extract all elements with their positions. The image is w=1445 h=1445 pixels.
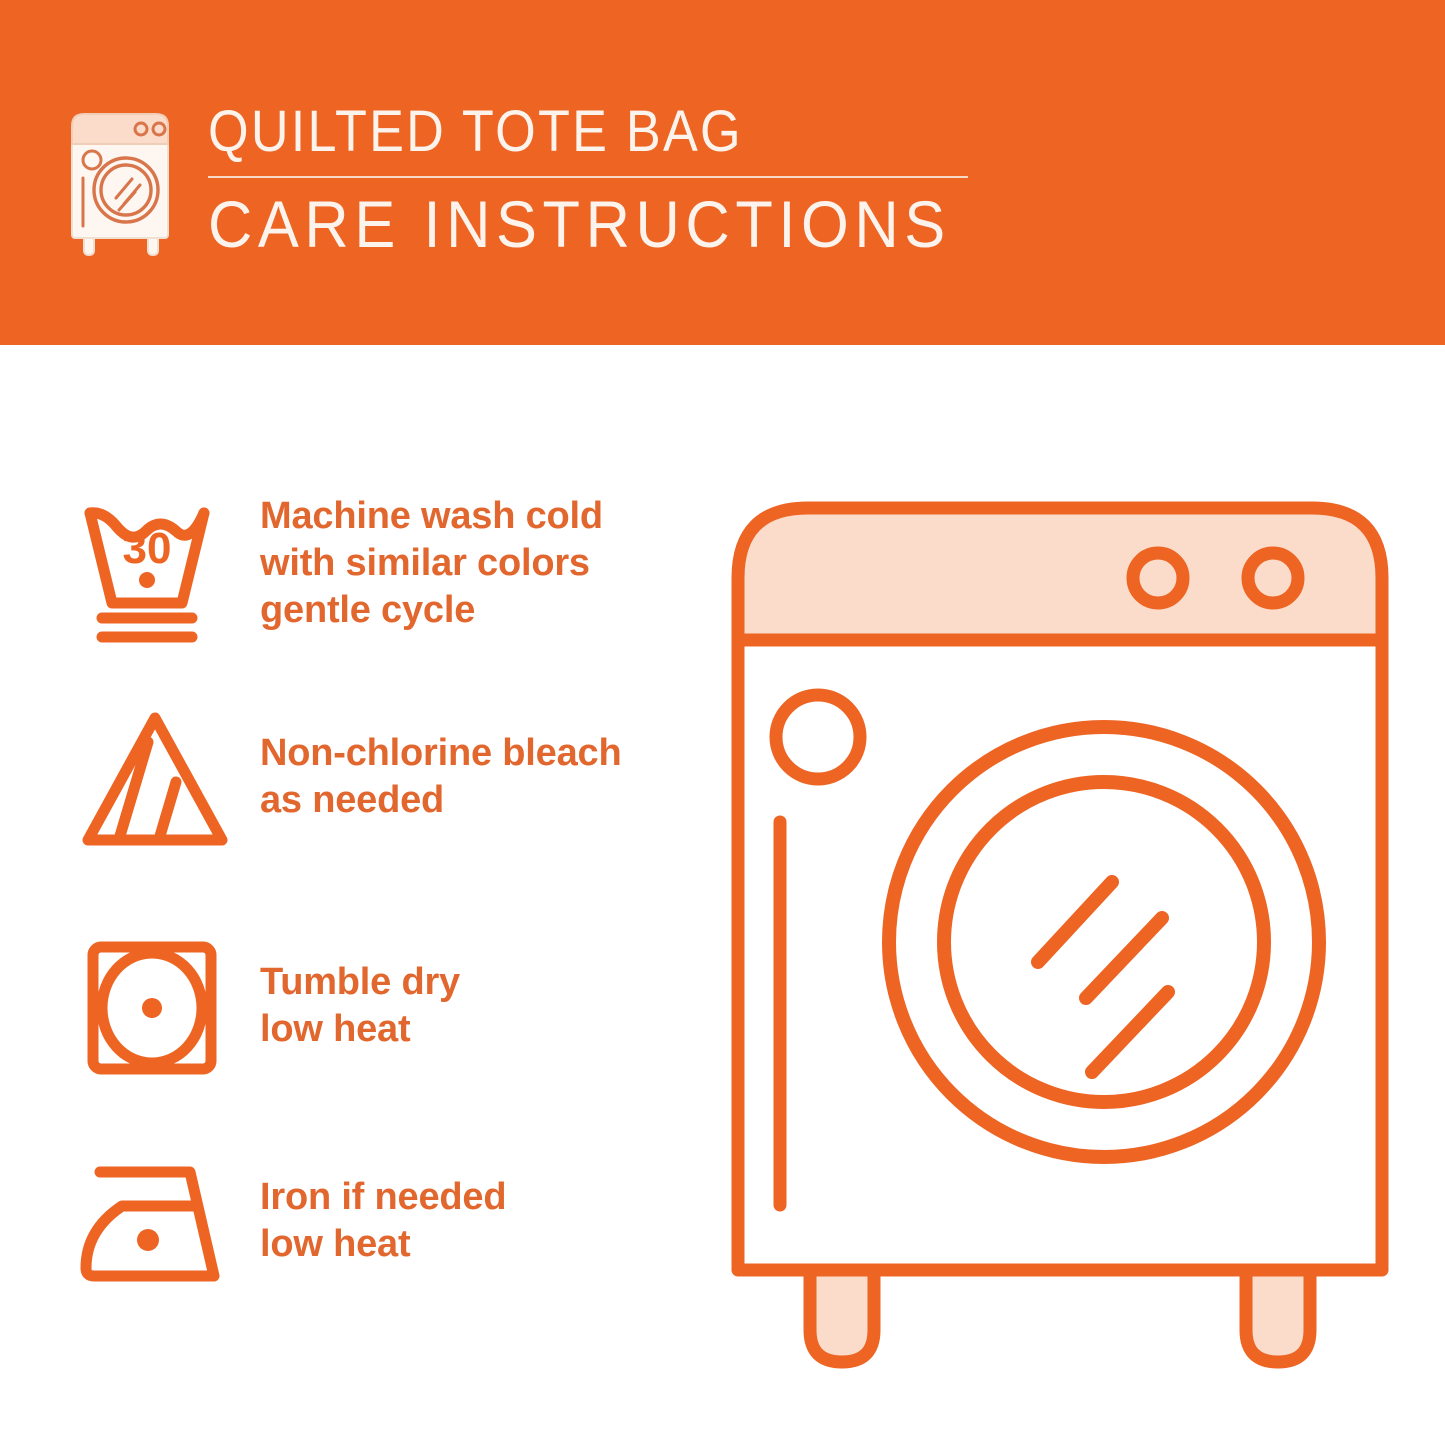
care-text-line: gentle cycle bbox=[260, 587, 603, 634]
care-text-line: Tumble dry bbox=[260, 959, 460, 1006]
header-band: QUILTED TOTE BAG CARE INSTRUCTIONS bbox=[0, 0, 1445, 345]
washing-machine-illustration bbox=[700, 450, 1420, 1400]
care-item-tumble-dry: Tumble dry low heat bbox=[72, 925, 692, 1091]
care-text-line: as needed bbox=[260, 777, 621, 824]
bleach-triangle-icon bbox=[72, 700, 238, 866]
care-item-bleach: Non-chlorine bleach as needed bbox=[72, 700, 692, 866]
tumble-dry-dot-icon bbox=[142, 998, 162, 1018]
header-content: QUILTED TOTE BAG CARE INSTRUCTIONS bbox=[62, 100, 1007, 260]
care-instruction-list: 30 Machine wash cold with similar colors… bbox=[0, 345, 700, 1445]
machine-indicator-circle bbox=[776, 695, 860, 779]
machine-top-panel bbox=[738, 508, 1382, 640]
care-text-line: with similar colors bbox=[260, 540, 603, 587]
machine-door-outer-ring bbox=[889, 727, 1319, 1157]
tumble-dry-low-icon bbox=[72, 925, 238, 1091]
care-text-line: Iron if needed bbox=[260, 1174, 506, 1221]
wash-temp-label: 30 bbox=[123, 524, 172, 573]
care-item-wash-label: Machine wash cold with similar colors ge… bbox=[260, 487, 603, 634]
care-text-line: low heat bbox=[260, 1221, 506, 1268]
care-item-iron-label: Iron if needed low heat bbox=[260, 1140, 506, 1268]
iron-dot-icon bbox=[137, 1229, 159, 1251]
machine-quilting-lines bbox=[1038, 882, 1168, 1072]
washing-machine-graphic bbox=[700, 450, 1420, 1400]
wash-dot-icon bbox=[139, 572, 155, 588]
care-text-line: low heat bbox=[260, 1006, 460, 1053]
machine-leg-left bbox=[810, 1270, 874, 1362]
header-titles: QUILTED TOTE BAG CARE INSTRUCTIONS bbox=[208, 100, 1007, 260]
page-subtitle: CARE INSTRUCTIONS bbox=[208, 188, 951, 260]
care-item-iron: Iron if needed low heat bbox=[72, 1140, 692, 1306]
care-item-bleach-label: Non-chlorine bleach as needed bbox=[260, 700, 621, 824]
title-divider bbox=[208, 176, 968, 178]
page-title: QUILTED TOTE BAG bbox=[208, 100, 927, 164]
care-item-dry-label: Tumble dry low heat bbox=[260, 925, 460, 1053]
washing-machine-icon bbox=[62, 106, 184, 256]
care-instructions-page: QUILTED TOTE BAG CARE INSTRUCTIONS 30 Ma… bbox=[0, 0, 1445, 1445]
machine-leg-right bbox=[1246, 1270, 1310, 1362]
care-item-wash: 30 Machine wash cold with similar colors… bbox=[72, 487, 692, 653]
care-text-line: Non-chlorine bleach bbox=[260, 730, 621, 777]
iron-low-heat-icon bbox=[72, 1140, 238, 1306]
care-text-line: Machine wash cold bbox=[260, 493, 603, 540]
wash-basin-30-icon: 30 bbox=[72, 487, 238, 653]
